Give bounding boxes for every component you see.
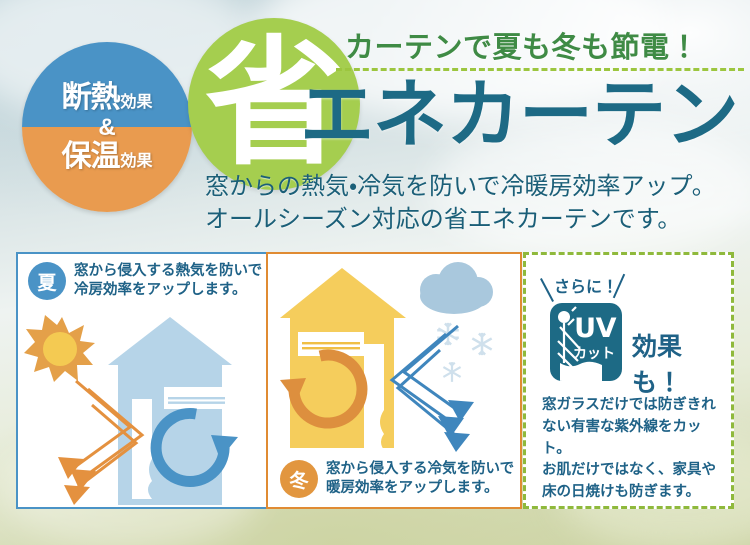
badge-ampersand: &: [98, 116, 115, 140]
tagline: カーテンで夏も冬も節電！: [345, 24, 699, 66]
summer-badge: 夏: [28, 262, 66, 300]
badge-line1-sub: 効果: [120, 95, 152, 111]
uv-body-line-2: ない有害な紫外線をカット。: [542, 417, 724, 461]
curtain-icon: [364, 344, 384, 450]
uv-eyebrow-label: さらに！: [554, 273, 618, 297]
uv-label-sub: カット: [573, 343, 615, 363]
panel-winter: 冬 窓から侵入する冷気を防いで 暖房効率をアップします。: [266, 252, 522, 509]
energy-saving-curtain-banner: 断熱 効果 & 保温 効果 省 カーテンで夏も冬も節電！ エネカーテン 窓からの…: [0, 0, 750, 545]
winter-caption-line-1: 窓から侵入する冷気を防いで: [326, 460, 514, 479]
winter-illustration: [268, 260, 520, 460]
summer-caption-line-1: 窓から侵入する熱気を防いで: [74, 262, 262, 281]
uv-cut-icon: UV カット: [550, 303, 622, 381]
uv-body-line-1: 窓ガラスだけでは防ぎきれ: [542, 395, 724, 417]
summer-caption-text: 窓から侵入する熱気を防いで 冷房効率をアップします。: [74, 262, 262, 300]
winter-caption-text: 窓から侵入する冷気を防いで 暖房効率をアップします。: [326, 460, 514, 498]
curtain-icon: [132, 399, 152, 499]
winter-caption-line-2: 暖房効率をアップします。: [326, 479, 514, 498]
uv-body-text: 窓ガラスだけでは防ぎきれ ない有害な紫外線をカット。 お肌だけではなく、家具や …: [542, 395, 724, 504]
lead-line-1: 窓からの熱気・冷気を防いで冷暖房効率アップ。: [205, 170, 725, 203]
badge-line2-main: 保温: [61, 142, 119, 172]
lead-line-2: オールシーズン対応の省エネカーテンです。: [205, 203, 725, 236]
badge-line2-sub: 効果: [120, 154, 152, 170]
badge-line1-main: 断熱: [61, 83, 119, 113]
winter-badge: 冬: [280, 460, 318, 498]
uv-body-line-3: お肌だけではなく、家具や: [542, 460, 724, 482]
eyebrow-slash-left-icon: [540, 278, 554, 302]
summer-caption-line-2: 冷房効率をアップします。: [74, 281, 262, 300]
illustration-panels: 夏 窓から侵入する熱気を防いで 冷房効率をアップします。: [16, 252, 734, 514]
winter-caption: 冬 窓から侵入する冷気を防いで 暖房効率をアップします。: [280, 460, 516, 498]
panel-uv: さらに！ UV カット 効果も！: [523, 252, 734, 509]
uv-label-main: UV: [574, 313, 616, 344]
page-title: エネカーテン: [300, 78, 738, 152]
summer-caption: 夏 窓から侵入する熱気を防いで 冷房効率をアップします。: [28, 262, 266, 300]
cloud-icon: [420, 262, 493, 314]
lead-description: 窓からの熱気・冷気を防いで冷暖房効率アップ。 オールシーズン対応の省エネカーテン…: [205, 170, 725, 236]
panel-summer: 夏 窓から侵入する熱気を防いで 冷房効率をアップします。: [16, 252, 272, 509]
summer-illustration: [18, 309, 270, 509]
snowflake-icon: [437, 323, 491, 382]
insulation-badge-text: 断熱 効果 & 保温 効果: [22, 42, 192, 212]
sun-icon: [24, 315, 95, 382]
heat-ray-arrowhead-icon: [58, 457, 96, 505]
aircon-icon: [164, 387, 230, 409]
uv-body-line-4: 床の日焼けも防ぎます。: [542, 482, 724, 504]
uv-effect-label: 効果も！: [632, 327, 731, 399]
dashed-divider: [336, 68, 744, 71]
